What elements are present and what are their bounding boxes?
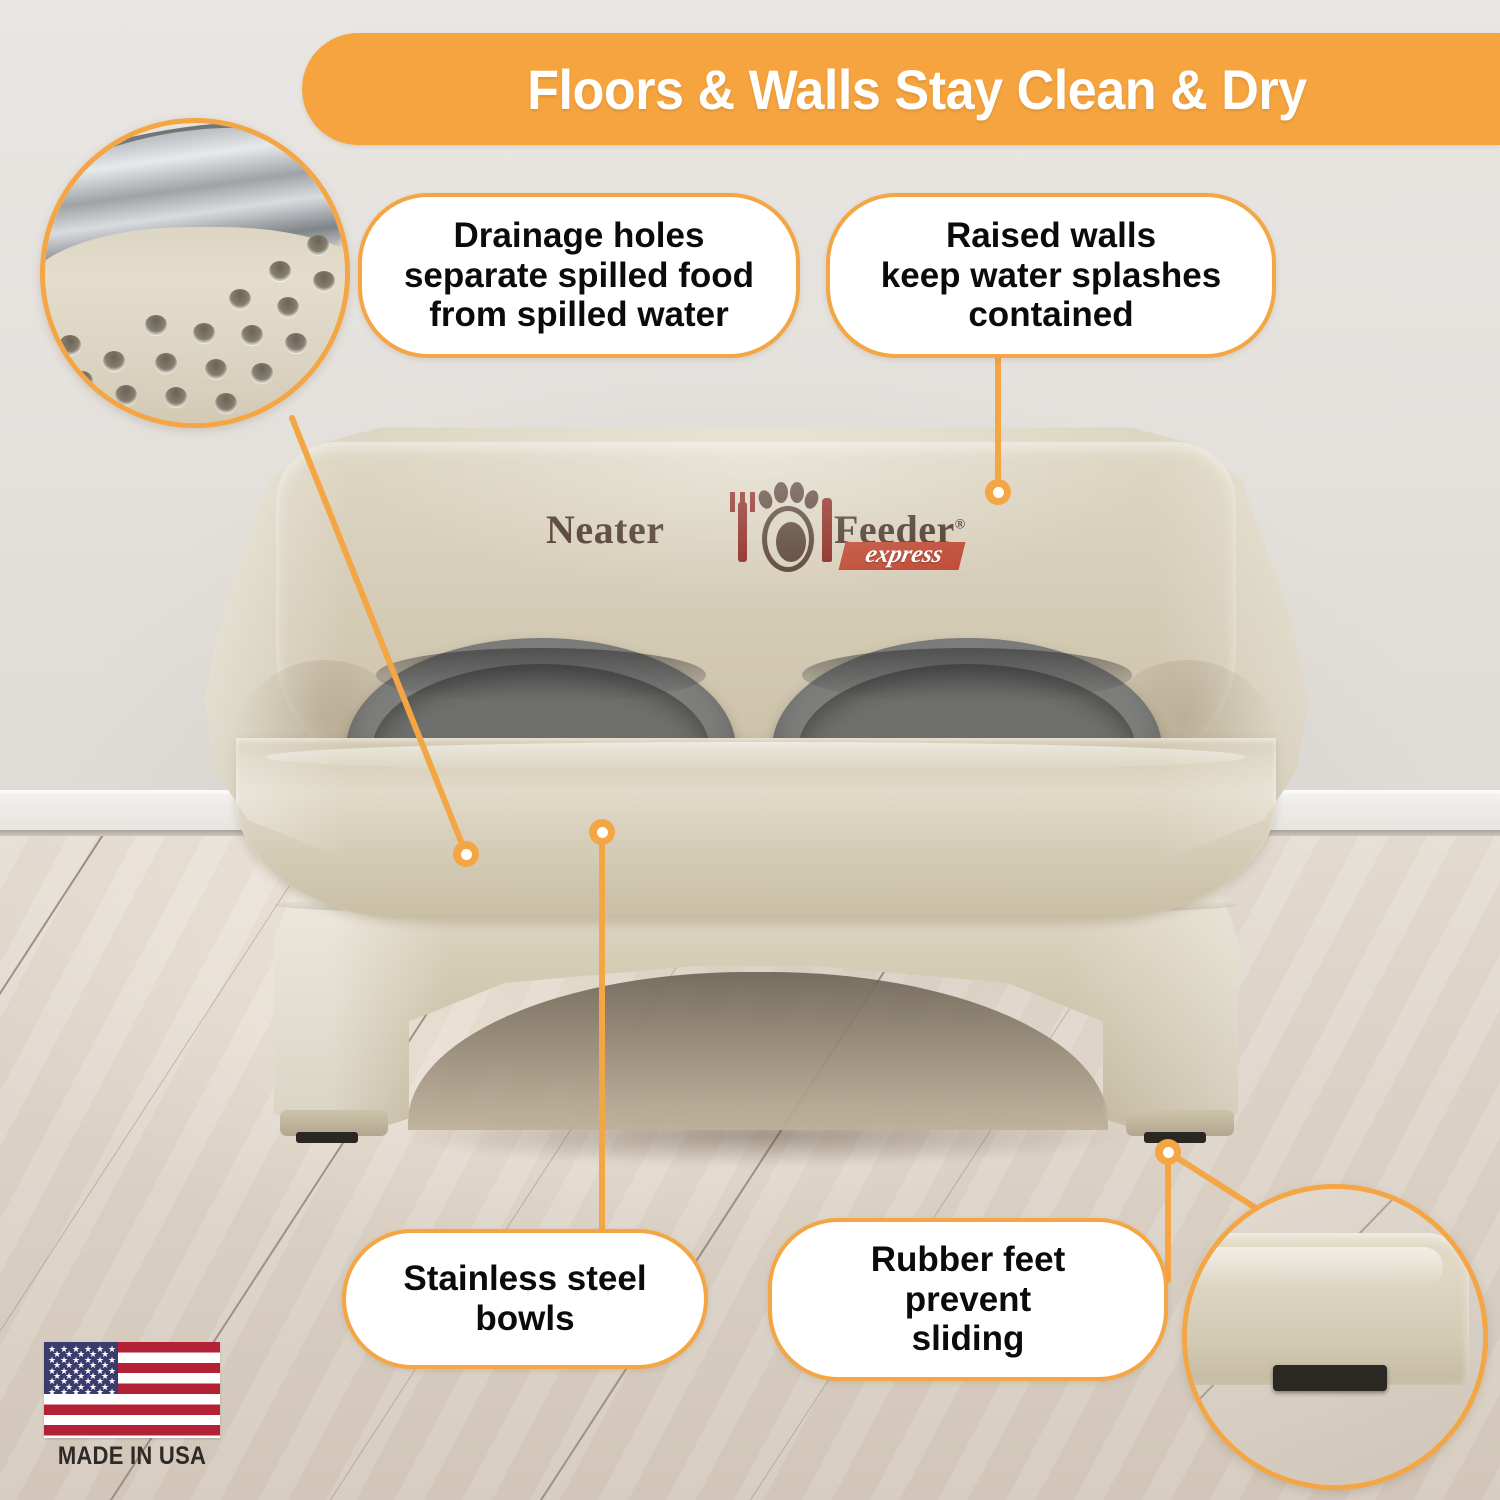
callout-text-raised-walls: Raised walls keep water splashes contain… <box>881 216 1221 336</box>
callout-bubble-rubber-feet[interactable]: Rubber feet prevent sliding <box>768 1218 1168 1381</box>
drainage-hole <box>71 371 93 391</box>
drainage-hole <box>115 385 137 405</box>
neater-feeder-express-product: Neater Feeder® express <box>196 420 1316 1180</box>
drainage-hole <box>277 297 299 317</box>
drainage-hole <box>59 335 81 355</box>
drainage-hole <box>285 333 307 353</box>
callout-dot-bowls <box>589 819 615 845</box>
inset-rubber-pad <box>1273 1365 1387 1391</box>
rubber-foot-left <box>296 1132 358 1143</box>
flag-star: ★ <box>60 1388 68 1394</box>
flag-star: ★ <box>108 1345 116 1354</box>
callout-dot-drainage <box>453 841 479 867</box>
callout-bubble-drainage[interactable]: Drainage holes separate spilled food fro… <box>358 193 800 358</box>
drainage-hole <box>205 359 227 379</box>
infographic-canvas: Neater Feeder® express <box>0 0 1500 1500</box>
rubber-foot-inset <box>1182 1184 1488 1490</box>
flag-star: ★ <box>48 1388 56 1394</box>
flag-star: ★ <box>108 1377 116 1386</box>
flag-star: ★ <box>96 1388 104 1394</box>
flag-star: ★ <box>84 1388 92 1394</box>
drainage-hole <box>269 261 291 281</box>
trough-sheen <box>204 420 1308 920</box>
drainage-hole <box>307 235 329 255</box>
flag-star: ★ <box>108 1367 116 1376</box>
flag-star: ★ <box>108 1388 116 1394</box>
drainage-hole <box>103 351 125 371</box>
drainage-hole <box>165 387 187 407</box>
callout-dot-raised-walls <box>985 479 1011 505</box>
drainage-hole <box>313 271 335 291</box>
callout-text-rubber-feet: Rubber feet prevent sliding <box>871 1240 1065 1360</box>
callout-dot-rubber-feet <box>1155 1139 1181 1165</box>
usa-flag-icon: ★★★★★★★★★★★★★★★★★★★★★★★★★★★★★★★★★★★★★★★★… <box>44 1342 220 1438</box>
drainage-hole <box>193 323 215 343</box>
made-in-usa-label: MADE IN USA <box>55 1442 210 1471</box>
header-title: Floors & Walls Stay Clean & Dry <box>495 57 1306 122</box>
callout-text-drainage: Drainage holes separate spilled food fro… <box>404 216 754 336</box>
drainage-hole <box>229 289 251 309</box>
flag-canton: ★★★★★★★★★★★★★★★★★★★★★★★★★★★★★★★★★★★★★★★★… <box>44 1342 118 1394</box>
drainage-hole <box>251 363 273 383</box>
drainage-hole <box>215 393 237 413</box>
base-arch-shadow <box>408 972 1108 1130</box>
header-banner: Floors & Walls Stay Clean & Dry <box>302 33 1500 145</box>
callout-text-stainless-bowls: Stainless steel bowls <box>403 1259 646 1339</box>
drainage-hole <box>145 315 167 335</box>
made-in-usa-badge: ★★★★★★★★★★★★★★★★★★★★★★★★★★★★★★★★★★★★★★★★… <box>44 1342 220 1470</box>
drainage-hole <box>155 353 177 373</box>
drainage-holes-inset <box>40 118 350 428</box>
callout-bubble-stainless-bowls[interactable]: Stainless steel bowls <box>342 1229 708 1369</box>
drainage-hole <box>241 325 263 345</box>
flag-star: ★ <box>72 1388 80 1394</box>
flag-star: ★ <box>108 1356 116 1365</box>
callout-bubble-raised-walls[interactable]: Raised walls keep water splashes contain… <box>826 193 1276 358</box>
inset-leg-highlight <box>1191 1247 1443 1287</box>
